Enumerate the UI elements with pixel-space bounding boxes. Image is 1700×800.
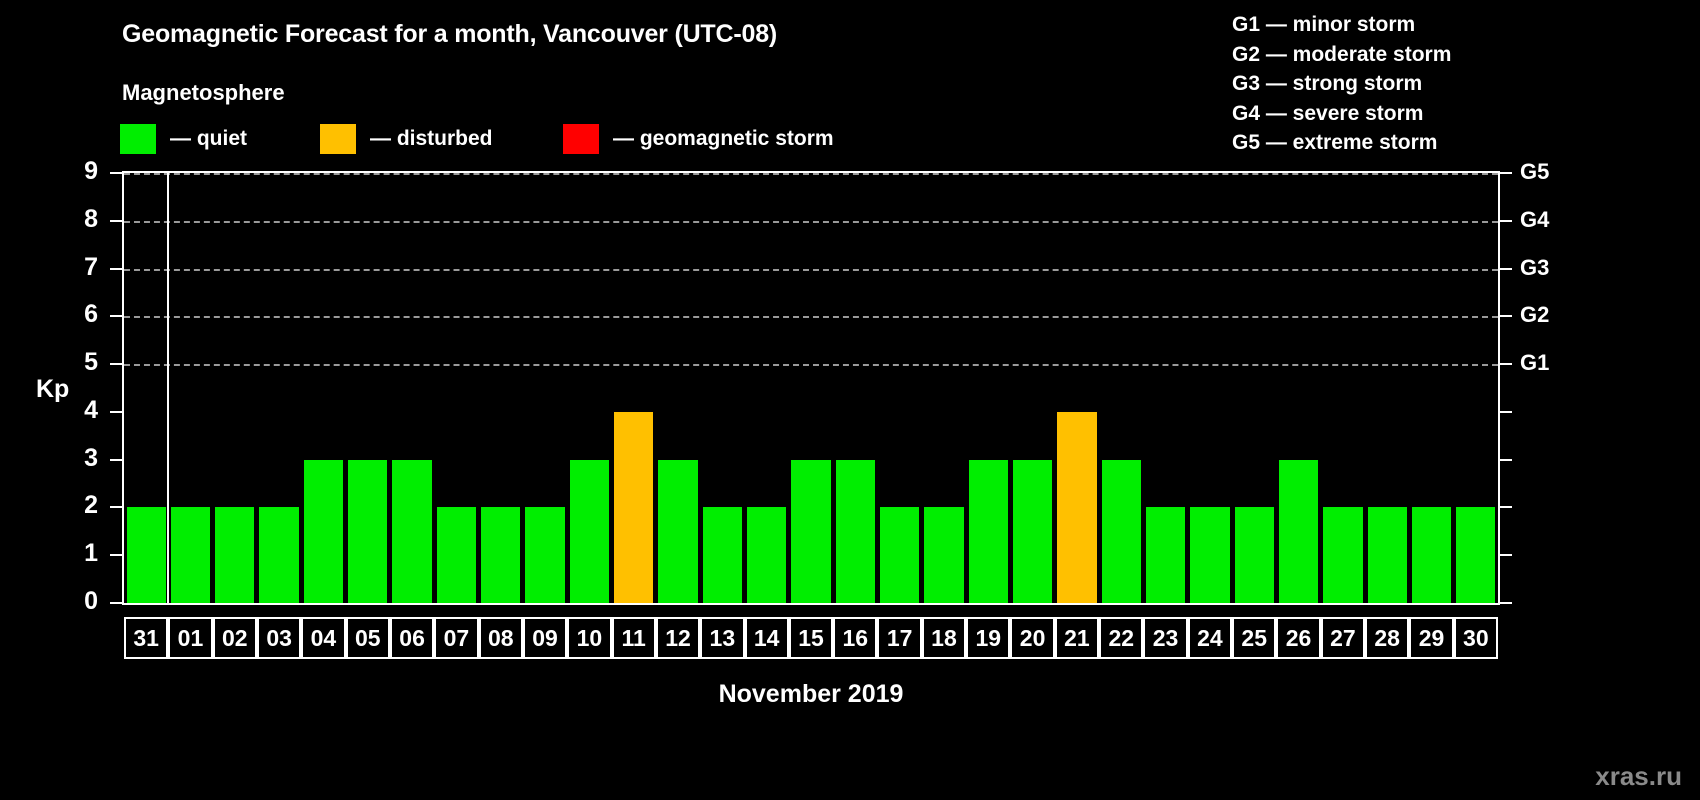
g-tick-mark-kp-8	[1500, 220, 1512, 222]
y-axis-label: Kp	[36, 375, 69, 404]
legend-entry-disturbed: — disturbed	[320, 122, 493, 156]
g-tick-mark-kp-9	[1500, 172, 1512, 174]
legend-label-disturbed: — disturbed	[370, 127, 493, 151]
bar-day-30[interactable]	[1456, 507, 1495, 603]
y-tick-label-0: 0	[64, 587, 98, 616]
y-tick-label-9: 9	[64, 157, 98, 186]
y-tick-mark-5	[110, 363, 122, 365]
y-tick-mark-8	[110, 220, 122, 222]
day-label-30[interactable]: 30	[1454, 617, 1498, 659]
bar-day-15[interactable]	[791, 460, 830, 603]
bar-day-31[interactable]	[127, 507, 166, 603]
day-label-25[interactable]: 25	[1232, 617, 1276, 659]
day-label-21[interactable]: 21	[1055, 617, 1099, 659]
y-tick-label-7: 7	[64, 253, 98, 282]
y-tick-mark-6	[110, 315, 122, 317]
page-title: Geomagnetic Forecast for a month, Vancou…	[122, 20, 777, 49]
g-tick-mark-kp-2	[1500, 506, 1512, 508]
bar-day-03[interactable]	[259, 507, 298, 603]
y-tick-label-2: 2	[64, 491, 98, 520]
g-tick-mark-kp-5	[1500, 363, 1512, 365]
g-legend-row-1: G1 — minor storm	[1232, 10, 1451, 40]
day-label-17[interactable]: 17	[877, 617, 921, 659]
bar-day-18[interactable]	[924, 507, 963, 603]
bar-day-16[interactable]	[836, 460, 875, 603]
g-tick-mark-kp-4	[1500, 411, 1512, 413]
day-label-29[interactable]: 29	[1409, 617, 1453, 659]
day-label-11[interactable]: 11	[612, 617, 656, 659]
y-tick-mark-0	[110, 602, 122, 604]
day-label-14[interactable]: 14	[745, 617, 789, 659]
day-label-04[interactable]: 04	[301, 617, 345, 659]
plot-inner	[124, 173, 1498, 603]
legend-swatch-quiet	[120, 124, 156, 154]
y-tick-mark-9	[110, 172, 122, 174]
bars-layer	[124, 173, 1498, 603]
day-label-23[interactable]: 23	[1143, 617, 1187, 659]
day-label-05[interactable]: 05	[346, 617, 390, 659]
y-tick-label-5: 5	[64, 348, 98, 377]
bar-day-17[interactable]	[880, 507, 919, 603]
g-legend-row-2: G2 — moderate storm	[1232, 40, 1451, 70]
bar-day-06[interactable]	[392, 460, 431, 603]
bar-day-04[interactable]	[304, 460, 343, 603]
y-tick-label-1: 1	[64, 539, 98, 568]
bar-day-13[interactable]	[703, 507, 742, 603]
day-label-02[interactable]: 02	[213, 617, 257, 659]
day-label-26[interactable]: 26	[1276, 617, 1320, 659]
day-label-09[interactable]: 09	[523, 617, 567, 659]
y-tick-mark-4	[110, 411, 122, 413]
day-label-28[interactable]: 28	[1365, 617, 1409, 659]
bar-day-10[interactable]	[570, 460, 609, 603]
bar-day-29[interactable]	[1412, 507, 1451, 603]
day-label-06[interactable]: 06	[390, 617, 434, 659]
g-tick-mark-kp-0	[1500, 602, 1512, 604]
g-tick-label-G4: G4	[1520, 207, 1549, 233]
y-tick-label-8: 8	[64, 205, 98, 234]
legend-label-geomagnetic-storm: — geomagnetic storm	[613, 127, 834, 151]
legend-swatch-geomagnetic-storm	[563, 124, 599, 154]
bar-day-27[interactable]	[1323, 507, 1362, 603]
bar-day-05[interactable]	[348, 460, 387, 603]
day-label-19[interactable]: 19	[966, 617, 1010, 659]
bar-day-11[interactable]	[614, 412, 653, 603]
x-axis-label: November 2019	[0, 680, 1622, 709]
day-label-12[interactable]: 12	[656, 617, 700, 659]
legend-entry-quiet: — quiet	[120, 122, 247, 156]
day-label-31[interactable]: 31	[124, 617, 168, 659]
g-tick-mark-kp-7	[1500, 268, 1512, 270]
day-label-08[interactable]: 08	[479, 617, 523, 659]
bar-day-02[interactable]	[215, 507, 254, 603]
bar-day-25[interactable]	[1235, 507, 1274, 603]
day-label-03[interactable]: 03	[257, 617, 301, 659]
day-label-16[interactable]: 16	[833, 617, 877, 659]
day-label-row: 3101020304050607080910111213141516171819…	[122, 617, 1500, 659]
g-tick-label-G3: G3	[1520, 255, 1549, 281]
day-label-20[interactable]: 20	[1010, 617, 1054, 659]
bar-day-20[interactable]	[1013, 460, 1052, 603]
day-label-13[interactable]: 13	[700, 617, 744, 659]
g-tick-label-G5: G5	[1520, 159, 1549, 185]
bar-day-21[interactable]	[1057, 412, 1096, 603]
legend-swatch-disturbed	[320, 124, 356, 154]
day-label-22[interactable]: 22	[1099, 617, 1143, 659]
day-label-10[interactable]: 10	[567, 617, 611, 659]
bar-day-12[interactable]	[658, 460, 697, 603]
bar-day-08[interactable]	[481, 507, 520, 603]
y-tick-mark-7	[110, 268, 122, 270]
day-label-18[interactable]: 18	[922, 617, 966, 659]
day-label-24[interactable]: 24	[1188, 617, 1232, 659]
g-scale-legend: G1 — minor stormG2 — moderate stormG3 — …	[1232, 10, 1451, 158]
y-tick-mark-1	[110, 554, 122, 556]
y-tick-mark-3	[110, 459, 122, 461]
day-label-01[interactable]: 01	[168, 617, 212, 659]
day-label-07[interactable]: 07	[434, 617, 478, 659]
g-legend-row-3: G3 — strong storm	[1232, 69, 1451, 99]
bar-day-14[interactable]	[747, 507, 786, 603]
magnetosphere-label: Magnetosphere	[122, 80, 285, 106]
watermark: xras.ru	[1595, 761, 1682, 792]
bar-day-07[interactable]	[437, 507, 476, 603]
plot-area	[122, 171, 1500, 605]
y-tick-label-6: 6	[64, 300, 98, 329]
g-legend-row-5: G5 — extreme storm	[1232, 128, 1451, 158]
day-label-27[interactable]: 27	[1321, 617, 1365, 659]
bar-day-19[interactable]	[969, 460, 1008, 603]
y-tick-label-3: 3	[64, 444, 98, 473]
g-tick-mark-kp-3	[1500, 459, 1512, 461]
bar-day-01[interactable]	[171, 507, 210, 603]
bar-day-09[interactable]	[525, 507, 564, 603]
y-tick-mark-2	[110, 506, 122, 508]
bar-day-22[interactable]	[1102, 460, 1141, 603]
g-legend-row-4: G4 — severe storm	[1232, 99, 1451, 129]
legend-entry-geomagnetic-storm: — geomagnetic storm	[563, 122, 834, 156]
day-label-15[interactable]: 15	[789, 617, 833, 659]
bar-day-26[interactable]	[1279, 460, 1318, 603]
bar-day-24[interactable]	[1190, 507, 1229, 603]
bar-day-23[interactable]	[1146, 507, 1185, 603]
g-tick-mark-kp-1	[1500, 554, 1512, 556]
g-tick-label-G1: G1	[1520, 350, 1549, 376]
g-tick-label-G2: G2	[1520, 302, 1549, 328]
bar-day-28[interactable]	[1368, 507, 1407, 603]
g-tick-mark-kp-6	[1500, 315, 1512, 317]
legend-label-quiet: — quiet	[170, 127, 247, 151]
